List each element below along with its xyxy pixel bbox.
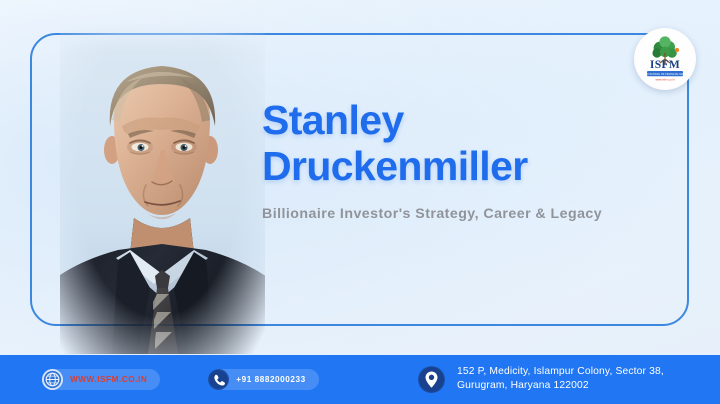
poster-subtitle: Billionaire Investor's Strategy, Career … <box>262 206 682 222</box>
svg-text:INDIAN SCHOOL OF FINANCIAL MAR: INDIAN SCHOOL OF FINANCIAL MARKET <box>640 73 691 76</box>
headline-block: Stanley Druckenmiller Billionaire Invest… <box>262 100 682 222</box>
title-last-name: Druckenmiller <box>262 146 682 188</box>
website-pill[interactable]: WWW.ISFM.CO.IN <box>42 369 160 390</box>
address-text: 152 P, Medicity, Islampur Colony, Sector… <box>457 365 664 395</box>
poster-canvas: Stanley Druckenmiller Billionaire Invest… <box>0 0 720 404</box>
portrait-photo <box>60 22 265 354</box>
address-line-1: 152 P, Medicity, Islampur Colony, Sector… <box>457 366 664 377</box>
globe-icon <box>42 369 63 390</box>
svg-text:www.isfm.co.in: www.isfm.co.in <box>655 78 675 82</box>
phone-icon <box>208 369 229 390</box>
title-first-name: Stanley <box>262 100 682 142</box>
address-line-2: Gurugram, Haryana 122002 <box>457 381 589 392</box>
tree-icon: ISFM INDIAN SCHOOL OF FINANCIAL MARKET w… <box>636 30 694 88</box>
address-block: 152 P, Medicity, Islampur Colony, Sector… <box>418 365 664 395</box>
isfm-logo-badge: ISFM INDIAN SCHOOL OF FINANCIAL MARKET w… <box>634 28 696 90</box>
website-text: WWW.ISFM.CO.IN <box>70 375 147 384</box>
phone-text: +91 8882000233 <box>236 375 305 384</box>
svg-text:ISFM: ISFM <box>650 59 680 71</box>
contact-footer-bar: WWW.ISFM.CO.IN +91 8882000233 <box>0 355 720 404</box>
footer-pills-group: WWW.ISFM.CO.IN +91 8882000233 <box>0 369 319 390</box>
location-pin-icon <box>418 366 445 393</box>
phone-pill[interactable]: +91 8882000233 <box>208 369 318 390</box>
